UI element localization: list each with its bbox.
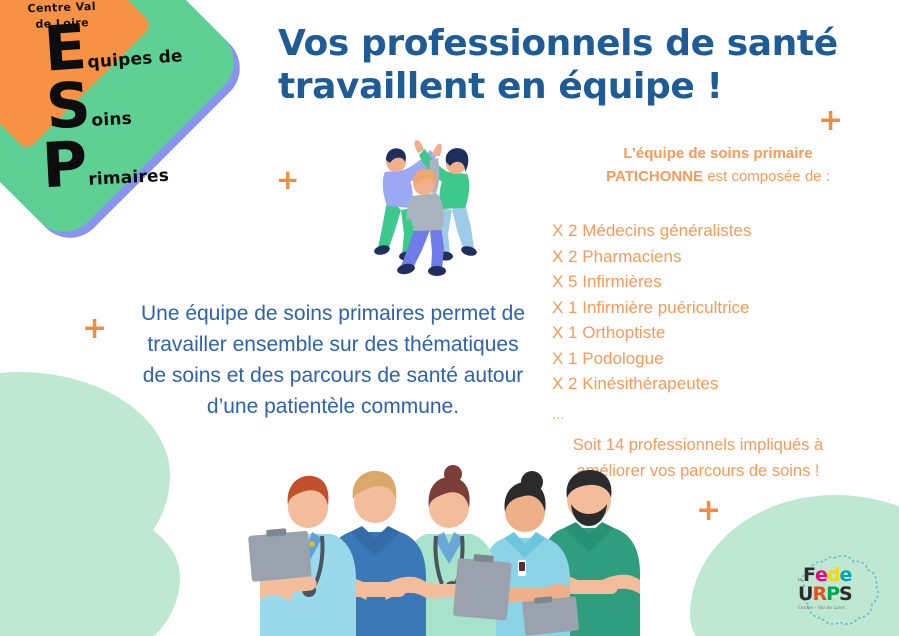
- esp-word-primaires: rimaires: [88, 167, 170, 189]
- list-ellipsis: ...: [552, 408, 888, 422]
- heading-line-1: L’équipe de soins primaire: [623, 145, 812, 162]
- heading-rest: est composée de :: [703, 168, 830, 185]
- fede-urps-logo: la F e d e U R P S Centre - Val de Loire: [788, 548, 888, 630]
- list-item: X 2 Pharmaciens: [552, 244, 888, 270]
- healthcare-team-illustration: [246, 452, 646, 636]
- team-composition-panel: L’équipe de soins primaire PATICHONNE es…: [548, 142, 888, 484]
- esp-word-soins: oins: [91, 110, 132, 130]
- fede-letter-u: U: [798, 585, 812, 604]
- list-item: X 1 Orthoptiste: [552, 320, 888, 346]
- esp-acronym-row-soins: S oins: [45, 74, 133, 136]
- poster-canvas: Centre Val de Loire E quipes de S oins P…: [0, 0, 899, 636]
- list-item: X 5 Infirmières: [552, 269, 888, 295]
- high-five-illustration: [368, 136, 486, 281]
- team-composition-heading: L’équipe de soins primaire PATICHONNE es…: [548, 142, 888, 188]
- plus-decor-bottom-right: +: [696, 496, 721, 526]
- esp-acronym-row-primaires: P rimaires: [41, 131, 170, 196]
- plus-decor-mid-left-upper: +: [276, 166, 299, 194]
- page-title-line-1: Vos professionnels de santé: [278, 22, 888, 65]
- team-name-patichonne: PATICHONNE: [606, 168, 703, 185]
- fede-tagline: Centre - Val de Loire: [798, 605, 852, 610]
- plus-decor-top-right: +: [818, 106, 843, 136]
- list-item: X 2 Kinésithérapeutes: [552, 371, 888, 397]
- intro-paragraph: Une équipe de soins primaires permet de …: [138, 298, 528, 422]
- list-item: X 1 Podologue: [552, 346, 888, 372]
- list-item: X 1 Infirmière puéricultrice: [552, 295, 888, 321]
- fede-urps-wordmark: la F e d e U R P S Centre - Val de Loire: [798, 566, 852, 610]
- esp-logo: Centre Val de Loire E quipes de S oins P…: [0, 0, 240, 238]
- esp-cap-p: P: [41, 135, 88, 195]
- list-item: X 2 Médecins généralistes: [552, 218, 888, 244]
- worker-1: [248, 476, 356, 636]
- fede-letter-s: S: [839, 585, 852, 604]
- background-blob-bottom-left: [0, 505, 180, 636]
- plus-decor-mid-left-lower: +: [82, 314, 107, 344]
- page-title: Vos professionnels de santé travaillent …: [278, 22, 888, 108]
- fede-letter-p: P: [826, 585, 839, 604]
- professionals-list: X 2 Médecins généralistes X 2 Pharmacien…: [552, 218, 888, 397]
- page-title-line-2: travaillent en équipe !: [278, 65, 888, 108]
- esp-word-equipes: quipes de: [87, 47, 183, 72]
- fede-letter-r: R: [812, 585, 826, 604]
- fede-line-bottom: U R P S: [798, 585, 852, 604]
